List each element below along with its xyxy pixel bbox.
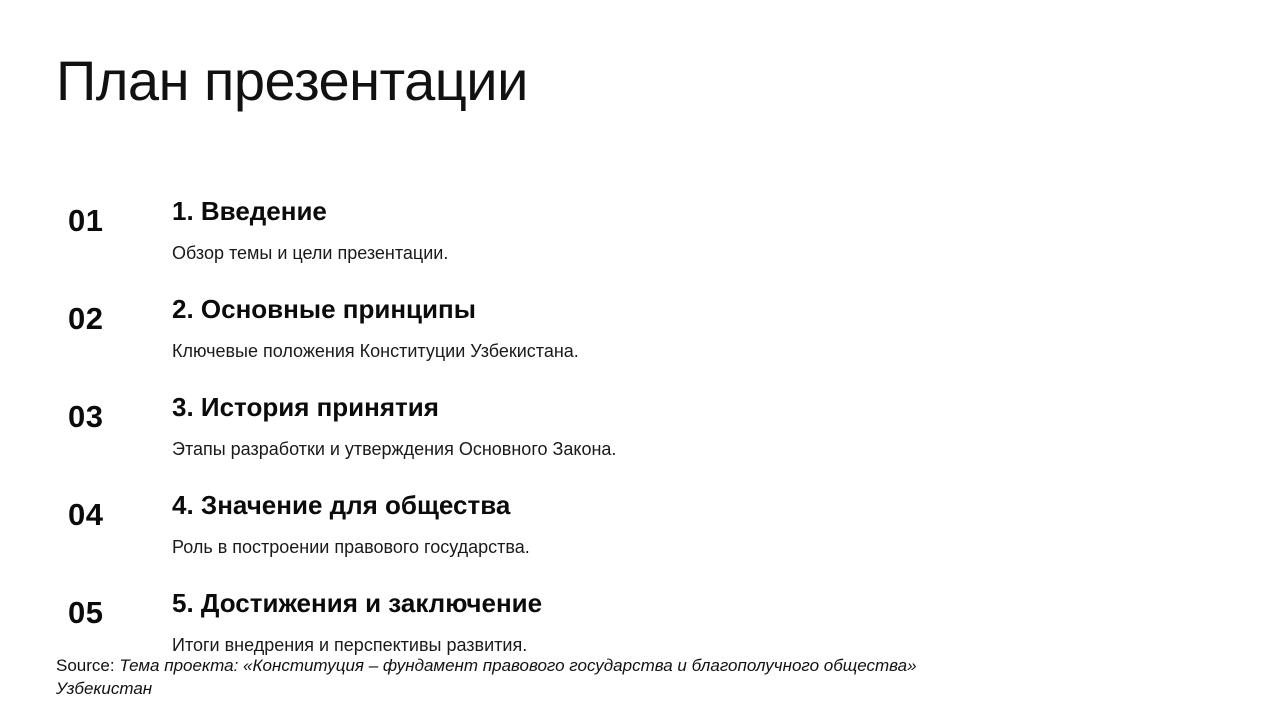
agenda-item-body: 1. Введение Обзор темы и цели презентаци… (172, 195, 1226, 265)
slide-canvas: План презентации 01 1. Введение Обзор те… (0, 0, 1280, 720)
agenda-item-number: 01 (68, 203, 178, 239)
agenda-item-body: 2. Основные принципы Ключевые положения … (172, 293, 1226, 363)
agenda-item-heading: 1. Введение (172, 195, 1226, 228)
agenda-item-description: Этапы разработки и утверждения Основного… (172, 438, 1226, 461)
agenda-item-body: 3. История принятия Этапы разработки и у… (172, 391, 1226, 461)
agenda-item-number: 03 (68, 399, 178, 435)
page-title: План презентации (56, 50, 528, 112)
agenda-item-heading: 2. Основные принципы (172, 293, 1226, 326)
list-item: 01 1. Введение Обзор темы и цели презент… (56, 195, 1226, 293)
agenda-item-number: 02 (68, 301, 178, 337)
agenda-item-description: Обзор темы и цели презентации. (172, 242, 1226, 265)
agenda-list: 01 1. Введение Обзор темы и цели презент… (56, 195, 1226, 685)
agenda-item-description: Итоги внедрения и перспективы развития. (172, 634, 1226, 657)
agenda-item-body: 4. Значение для общества Роль в построен… (172, 489, 1226, 559)
list-item: 02 2. Основные принципы Ключевые положен… (56, 293, 1226, 391)
agenda-item-heading: 5. Достижения и заключение (172, 587, 1226, 620)
agenda-item-description: Роль в построении правового государства. (172, 536, 1226, 559)
agenda-item-heading: 4. Значение для общества (172, 489, 1226, 522)
source-label: Source: (56, 656, 119, 675)
agenda-item-number: 05 (68, 595, 178, 631)
agenda-item-description: Ключевые положения Конституции Узбекиста… (172, 340, 1226, 363)
list-item: 03 3. История принятия Этапы разработки … (56, 391, 1226, 489)
list-item: 04 4. Значение для общества Роль в постр… (56, 489, 1226, 587)
source-note: Source: Тема проекта: «Конституция – фун… (56, 655, 1016, 701)
agenda-item-number: 04 (68, 497, 178, 533)
source-text: Тема проекта: «Конституция – фундамент п… (56, 656, 917, 698)
agenda-item-body: 5. Достижения и заключение Итоги внедрен… (172, 587, 1226, 657)
agenda-item-heading: 3. История принятия (172, 391, 1226, 424)
